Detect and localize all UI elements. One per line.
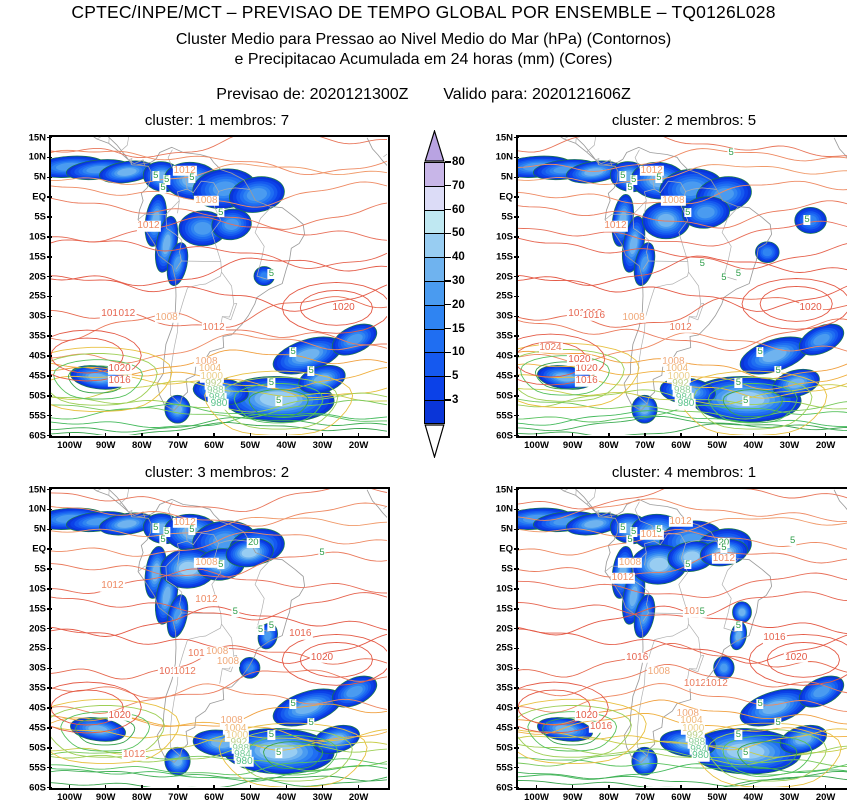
y-axis-tick: [47, 608, 52, 610]
map-canvas: 1012100810121012101610201012100810081016…: [51, 489, 388, 788]
y-axis-tick: [514, 375, 519, 377]
x-axis-tick: [322, 433, 324, 438]
isobar-label: 1012: [194, 595, 218, 606]
colorbar-tick-label: 3: [452, 394, 458, 406]
y-axis-tick: [514, 648, 519, 650]
y-axis-label: 10S: [17, 583, 46, 594]
map-panel-cluster-2[interactable]: 1012100810121016012100810121020102010161…: [516, 135, 847, 438]
panel-title-cluster-2: cluster: 2 membros: 5: [516, 112, 847, 129]
x-axis-tick: [789, 785, 791, 790]
y-axis-label: 30S: [17, 311, 46, 322]
precip-contour-label: 5: [735, 730, 742, 740]
y-axis-label: EQ: [484, 192, 513, 203]
x-axis-label: 90W: [96, 792, 116, 803]
colorbar-segment: [424, 162, 445, 186]
y-axis-tick: [514, 608, 519, 610]
y-axis-label: 5N: [484, 172, 513, 183]
colorbar-tick-label: 80: [452, 156, 465, 168]
colorbar-segment: [424, 281, 445, 305]
x-axis-tick: [105, 785, 107, 790]
colorbar-tick-label: 50: [452, 227, 465, 239]
x-axis-tick: [572, 433, 574, 438]
colorbar-segment: [424, 257, 445, 281]
colorbar-tick: [445, 209, 451, 210]
x-axis-label: 60W: [671, 440, 691, 451]
y-axis-tick: [514, 529, 519, 531]
y-axis-tick: [47, 747, 52, 749]
y-axis-label: 15S: [17, 603, 46, 614]
isobar-label: 1016: [625, 653, 649, 664]
colorbar-tick: [445, 376, 451, 377]
precip-contour-label: 5: [217, 560, 224, 570]
precip-contour-label: 5: [789, 536, 796, 546]
y-axis-label: 60S: [17, 782, 46, 793]
y-axis-tick: [514, 415, 519, 417]
x-axis-tick: [358, 785, 360, 790]
colorbar-tick-label: 15: [452, 323, 465, 335]
x-axis-label: 80W: [599, 792, 619, 803]
y-axis-tick: [47, 256, 52, 258]
y-axis-label: 40S: [17, 703, 46, 714]
y-axis-tick: [514, 335, 519, 337]
y-axis-label: 15S: [484, 603, 513, 614]
x-axis-label: 100W: [524, 440, 549, 451]
x-axis-label: 80W: [599, 440, 619, 451]
x-axis-tick: [644, 433, 646, 438]
map-panel-cluster-1[interactable]: 1012100810121016012100810121020102010161…: [49, 135, 390, 438]
precip-contour-label: 5: [728, 148, 735, 158]
y-axis-tick: [47, 787, 52, 789]
y-axis-tick: [514, 687, 519, 689]
y-axis-tick: [47, 415, 52, 417]
precip-contour-label: 5: [655, 525, 662, 535]
colorbar-tick: [445, 161, 451, 162]
y-axis-tick: [47, 196, 52, 198]
precip-contour-label: 20: [247, 538, 260, 548]
x-axis-label: 40W: [277, 792, 297, 803]
precip-contour-label: 5: [655, 173, 662, 183]
y-axis-label: 35S: [484, 331, 513, 342]
y-axis-label: 60S: [17, 430, 46, 441]
x-axis-label: 70W: [168, 440, 188, 451]
y-axis-label: 50S: [17, 742, 46, 753]
y-axis-label: 30S: [17, 663, 46, 674]
y-axis-label: 5S: [484, 563, 513, 574]
map-canvas: 1012100810121016012100810121020102010161…: [51, 137, 388, 436]
x-axis-tick: [644, 785, 646, 790]
x-axis-label: 50W: [707, 440, 727, 451]
x-axis-tick: [177, 785, 179, 790]
precip-contour-label: 5: [275, 748, 282, 758]
colorbar-tick-label: 20: [452, 299, 465, 311]
colorbar-segment: [424, 352, 445, 376]
y-axis-tick: [47, 648, 52, 650]
isobar-label: 1020: [107, 710, 131, 721]
isobar-label: 1012: [668, 516, 692, 527]
y-axis-tick: [514, 316, 519, 318]
colorbar[interactable]: [424, 130, 445, 462]
precip-contour-label: 5: [268, 730, 275, 740]
y-axis-tick: [514, 196, 519, 198]
isobar-label: 1008: [621, 313, 645, 324]
y-axis-tick: [514, 435, 519, 437]
y-axis-label: 30S: [484, 663, 513, 674]
isobar-label: 1020: [574, 710, 598, 721]
y-axis-label: 15N: [17, 484, 46, 495]
y-axis-tick: [514, 727, 519, 729]
y-axis-label: EQ: [484, 544, 513, 555]
colorbar-tick: [445, 352, 451, 353]
valid-for: Valido para: 2020121606Z: [443, 86, 630, 103]
map-panel-cluster-4[interactable]: 1012101210081012101210121016102010161008…: [516, 487, 847, 790]
isobar-label: 1020: [107, 364, 131, 375]
y-axis-tick: [514, 668, 519, 670]
x-axis-tick: [536, 785, 538, 790]
colorbar-segment: [424, 400, 445, 424]
y-axis-label: 40S: [484, 703, 513, 714]
x-axis-tick: [825, 433, 827, 438]
precip-contour-label: 5: [289, 347, 296, 357]
isobar-label: 1012: [668, 322, 692, 333]
panel-title-cluster-4: cluster: 4 membros: 1: [516, 464, 847, 481]
x-axis-label: 60W: [671, 792, 691, 803]
y-axis-tick: [514, 395, 519, 397]
y-axis-label: 55S: [17, 410, 46, 421]
y-axis-tick: [47, 588, 52, 590]
isobar-label: 980: [235, 756, 254, 767]
y-axis-label: 10S: [484, 583, 513, 594]
y-axis-label: 25S: [484, 291, 513, 302]
y-axis-label: 35S: [17, 683, 46, 694]
x-axis-label: 30W: [780, 440, 800, 451]
y-axis-label: 20S: [17, 271, 46, 282]
x-axis-label: 60W: [204, 440, 224, 451]
precip-contour-label: 5: [699, 259, 706, 269]
precip-contour-label: 5: [188, 525, 195, 535]
y-axis-tick: [47, 668, 52, 670]
precip-contour-label: 5: [268, 269, 275, 279]
x-axis-label: 50W: [240, 440, 260, 451]
isobar-label: 1020: [798, 303, 822, 314]
isobar-label: 1008: [647, 667, 671, 678]
colorbar-tick-label: 70: [452, 180, 465, 192]
y-axis-tick: [47, 296, 52, 298]
isobar-label: 1024: [538, 342, 562, 353]
y-axis-tick: [47, 489, 52, 491]
x-axis-tick: [250, 785, 252, 790]
precip-contour-label: 5: [217, 208, 224, 218]
panel-title-cluster-3: cluster: 3 membros: 2: [49, 464, 385, 481]
colorbar-segment: [424, 186, 445, 210]
colorbar-tick: [445, 280, 451, 281]
y-axis-label: 25S: [484, 643, 513, 654]
precip-contour-label: 5: [232, 607, 239, 617]
y-axis-label: 55S: [17, 762, 46, 773]
isobar-label: 1012: [122, 750, 146, 761]
y-axis-label: 60S: [484, 430, 513, 441]
y-axis-label: 60S: [484, 782, 513, 793]
y-axis-tick: [514, 236, 519, 238]
isobar-label: 1016: [589, 722, 613, 733]
page-title: CPTEC/INPE/MCT – PREVISAO DE TEMPO GLOBA…: [0, 2, 847, 23]
colorbar-tick-label: 5: [452, 370, 458, 382]
precip-contour-label: 5: [735, 378, 742, 388]
colorbar-over-arrow: [424, 130, 445, 162]
map-canvas: 1012101210081012101210121016102010161008…: [518, 489, 847, 788]
precip-contour-label: 5: [307, 718, 314, 728]
x-axis-label: 80W: [132, 440, 152, 451]
isobar-label: 1012: [603, 221, 627, 232]
y-axis-tick: [47, 137, 52, 139]
isobar-label: 1008: [194, 557, 218, 568]
isobar-label: 1012: [100, 581, 124, 592]
isobar-label: 1012: [611, 573, 635, 584]
x-axis-tick: [69, 785, 71, 790]
y-axis-tick: [514, 628, 519, 630]
y-axis-label: 15N: [17, 132, 46, 143]
isobar-label: 1020: [784, 653, 808, 664]
y-axis-tick: [514, 787, 519, 789]
y-axis-label: 50S: [17, 390, 46, 401]
isobar-label: 1016: [762, 633, 786, 644]
y-axis-tick: [514, 747, 519, 749]
x-axis-label: 30W: [780, 792, 800, 803]
precip-contour-label: 5: [684, 560, 691, 570]
isobar-label: 1020: [574, 364, 598, 375]
precip-contour-label: 5: [268, 621, 275, 631]
x-axis-label: 70W: [635, 792, 655, 803]
x-axis-tick: [358, 433, 360, 438]
y-axis-label: 40S: [17, 351, 46, 362]
precip-contour-label: 5: [720, 543, 727, 553]
y-axis-label: 10N: [484, 152, 513, 163]
isobar-label: 1016: [582, 311, 606, 322]
isobar-label: 1012: [705, 678, 729, 689]
map-panel-cluster-3[interactable]: 1012100810121012101610201012100810081016…: [49, 487, 390, 790]
y-axis-label: 45S: [484, 370, 513, 381]
x-axis-tick: [177, 433, 179, 438]
precip-contour-label: 5: [619, 171, 626, 181]
y-axis-label: 55S: [484, 762, 513, 773]
y-axis-label: 15S: [17, 251, 46, 262]
x-axis-label: 70W: [168, 792, 188, 803]
subtitle-colors: e Precipitacao Acumulada em 24 horas (mm…: [0, 51, 847, 69]
isobar-label: 1012: [136, 221, 160, 232]
x-axis-label: 100W: [57, 440, 82, 451]
y-axis-label: 35S: [17, 331, 46, 342]
y-axis-label: 10N: [17, 504, 46, 515]
x-axis-label: 40W: [277, 440, 297, 451]
y-axis-label: 5N: [17, 172, 46, 183]
precip-contour-label: 5: [774, 366, 781, 376]
isobar-label: 1012: [683, 678, 707, 689]
y-axis-label: 25S: [17, 291, 46, 302]
y-axis-label: 20S: [484, 623, 513, 634]
x-axis-label: 20W: [349, 440, 369, 451]
y-axis-label: 5S: [17, 563, 46, 574]
x-axis-tick: [213, 785, 215, 790]
map-canvas: 1012100810121016012100810121020102010161…: [518, 137, 847, 436]
colorbar-tick: [445, 257, 451, 258]
y-axis-tick: [47, 335, 52, 337]
isobar-label: 1008: [194, 195, 218, 206]
x-axis-label: 30W: [313, 440, 333, 451]
y-axis-tick: [47, 316, 52, 318]
x-axis-tick: [286, 785, 288, 790]
x-axis-label: 90W: [563, 440, 583, 451]
y-axis-tick: [514, 216, 519, 218]
y-axis-tick: [47, 707, 52, 709]
y-axis-tick: [47, 767, 52, 769]
x-axis-tick: [141, 785, 143, 790]
precip-contour-label: 5: [152, 523, 159, 533]
isobar-label: 1012: [712, 553, 736, 564]
y-axis-tick: [47, 216, 52, 218]
precip-contour-label: 5: [275, 396, 282, 406]
y-axis-label: 20S: [17, 623, 46, 634]
y-axis-label: 5S: [484, 211, 513, 222]
y-axis-tick: [514, 707, 519, 709]
x-axis-tick: [680, 785, 682, 790]
subtitle-contours: Cluster Medio para Pressao ao Nivel Medi…: [0, 31, 847, 49]
colorbar-tick-label: 30: [452, 275, 465, 287]
y-axis-label: 30S: [484, 311, 513, 322]
colorbar-tick: [445, 304, 451, 305]
x-axis-label: 80W: [132, 792, 152, 803]
forecast-time-line: Previsao de: 2020121300Z Valido para: 20…: [0, 86, 847, 104]
y-axis-label: 25S: [17, 643, 46, 654]
x-axis-tick: [753, 433, 755, 438]
y-axis-label: 5S: [17, 211, 46, 222]
x-axis-tick: [680, 433, 682, 438]
precip-contour-label: 5: [735, 269, 742, 279]
x-axis-tick: [717, 433, 719, 438]
x-axis-tick: [825, 785, 827, 790]
precip-contour-label: 5: [152, 171, 159, 181]
colorbar-segment: [424, 233, 445, 257]
y-axis-label: 10N: [17, 152, 46, 163]
y-axis-label: 5N: [17, 524, 46, 535]
colorbar-tick: [445, 185, 451, 186]
isobar-label: 980: [210, 399, 229, 410]
y-axis-tick: [47, 276, 52, 278]
isobar-label: 980: [677, 399, 696, 410]
x-axis-label: 70W: [635, 440, 655, 451]
precip-contour-label: 5: [699, 607, 706, 617]
x-axis-tick: [572, 785, 574, 790]
y-axis-label: 15N: [484, 484, 513, 495]
precip-contour-label: 5: [756, 347, 763, 357]
y-axis-tick: [514, 588, 519, 590]
precip-contour-label: 5: [159, 183, 166, 193]
y-axis-label: 55S: [484, 410, 513, 421]
colorbar-tick: [445, 233, 451, 234]
y-axis-tick: [514, 157, 519, 159]
y-axis-tick: [47, 435, 52, 437]
y-axis-tick: [47, 375, 52, 377]
colorbar-tick-label: 60: [452, 204, 465, 216]
y-axis-label: 50S: [484, 390, 513, 401]
forecast-from: Previsao de: 2020121300Z: [216, 86, 408, 103]
precip-contour-label: 5: [626, 535, 633, 545]
isobar-label: 1008: [661, 195, 685, 206]
y-axis-tick: [514, 137, 519, 139]
precip-contour-label: 5: [257, 625, 264, 635]
x-axis-label: 40W: [744, 440, 764, 451]
y-axis-tick: [514, 489, 519, 491]
isobar-label: 1012: [173, 667, 197, 678]
y-axis-label: 15S: [484, 251, 513, 262]
x-axis-label: 100W: [524, 792, 549, 803]
isobar-label: 1008: [216, 657, 240, 668]
precip-contour-label: 5: [188, 173, 195, 183]
precip-contour-label: 5: [268, 378, 275, 388]
x-axis-label: 30W: [313, 792, 333, 803]
isobar-label: 012: [118, 309, 137, 320]
colorbar-under-arrow: [424, 424, 445, 458]
precip-contour-label: 5: [684, 208, 691, 218]
colorbar-segment: [424, 210, 445, 234]
y-axis-tick: [514, 548, 519, 550]
x-axis-label: 20W: [816, 792, 836, 803]
precip-contour-label: 5: [626, 183, 633, 193]
x-axis-label: 100W: [57, 792, 82, 803]
x-axis-tick: [789, 433, 791, 438]
x-axis-label: 90W: [563, 792, 583, 803]
y-axis-tick: [514, 767, 519, 769]
y-axis-tick: [47, 628, 52, 630]
x-axis-label: 60W: [204, 792, 224, 803]
y-axis-tick: [47, 568, 52, 570]
y-axis-tick: [47, 177, 52, 179]
isobar-label: 1012: [201, 322, 225, 333]
y-axis-tick: [514, 355, 519, 357]
y-axis-tick: [47, 727, 52, 729]
x-axis-tick: [250, 433, 252, 438]
y-axis-tick: [514, 177, 519, 179]
y-axis-label: 45S: [484, 722, 513, 733]
y-axis-label: 20S: [484, 271, 513, 282]
x-axis-tick: [753, 785, 755, 790]
y-axis-label: 5N: [484, 524, 513, 535]
x-axis-tick: [608, 785, 610, 790]
isobar-label: 1020: [331, 303, 355, 314]
precip-contour-label: 5: [307, 366, 314, 376]
y-axis-tick: [47, 236, 52, 238]
y-axis-tick: [514, 568, 519, 570]
precip-contour-label: 5: [742, 396, 749, 406]
x-axis-tick: [213, 433, 215, 438]
precip-contour-label: 5: [735, 621, 742, 631]
isobar-label: 1016: [107, 376, 131, 387]
y-axis-label: 10S: [484, 231, 513, 242]
isobar-label: 980: [691, 751, 710, 762]
y-axis-tick: [514, 296, 519, 298]
isobar-label: 1020: [567, 354, 591, 365]
colorbar-segment: [424, 329, 445, 353]
x-axis-label: 90W: [96, 440, 116, 451]
colorbar-tick: [445, 399, 451, 400]
x-axis-label: 20W: [816, 440, 836, 451]
y-axis-tick: [47, 157, 52, 159]
y-axis-label: EQ: [17, 192, 46, 203]
colorbar-tick: [445, 328, 451, 329]
colorbar-segment: [424, 305, 445, 329]
x-axis-label: 40W: [744, 792, 764, 803]
x-axis-tick: [105, 433, 107, 438]
isobar-label: 1016: [288, 629, 312, 640]
isobar-label: 1016: [574, 376, 598, 387]
